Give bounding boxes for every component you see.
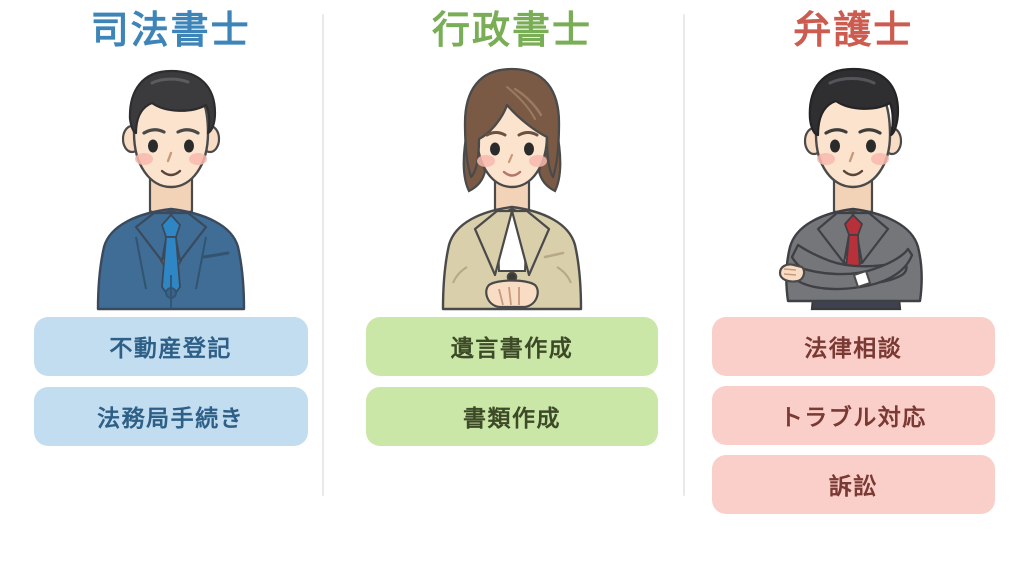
male-gray-suit-arms-crossed-icon (748, 61, 958, 311)
column-bengoshi: 弁護士 (683, 0, 1024, 576)
badge-item[interactable]: 法律相談 (712, 317, 995, 376)
badge-item[interactable]: 訴訟 (712, 455, 995, 514)
badge-list-shiho-shoshi: 不動産登記 法務局手続き (0, 317, 341, 446)
badge-item[interactable]: トラブル対応 (712, 386, 995, 445)
badge-item[interactable]: 書類作成 (366, 387, 658, 446)
column-gyosei-shoshi: 行政書士 (341, 0, 682, 576)
badge-item[interactable]: 不動産登記 (34, 317, 308, 376)
illustration-female-beige-blazer (341, 56, 682, 311)
female-beige-blazer-icon (407, 61, 617, 311)
column-shiho-shoshi: 司法書士 (0, 0, 341, 576)
column-title-shiho-shoshi: 司法書士 (91, 8, 251, 56)
badge-item[interactable]: 遺言書作成 (366, 317, 658, 376)
comparison-board: 司法書士 (0, 0, 1024, 576)
badge-item[interactable]: 法務局手続き (34, 387, 308, 446)
column-title-bengoshi: 弁護士 (793, 8, 913, 56)
column-title-gyosei-shoshi: 行政書士 (432, 8, 592, 56)
illustration-male-gray-suit-arms-crossed (683, 56, 1024, 311)
male-blue-suit-icon (66, 61, 276, 311)
badge-list-bengoshi: 法律相談 トラブル対応 訴訟 (683, 317, 1024, 514)
badge-list-gyosei-shoshi: 遺言書作成 書類作成 (341, 317, 682, 446)
illustration-male-blue-suit (0, 56, 341, 311)
